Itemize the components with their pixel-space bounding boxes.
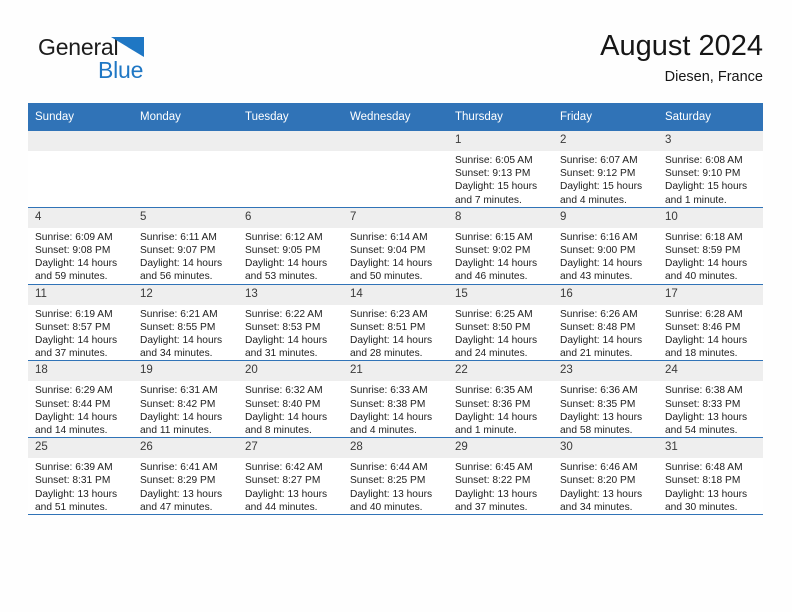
weekday-header-tuesday: Tuesday bbox=[238, 103, 343, 131]
daylight-text-line1: Daylight: 14 hours bbox=[350, 411, 442, 424]
daylight-text-line1: Daylight: 14 hours bbox=[140, 257, 232, 270]
sunset-text: Sunset: 8:44 PM bbox=[35, 398, 127, 411]
day-number: 21 bbox=[343, 361, 448, 381]
sunset-text: Sunset: 8:22 PM bbox=[455, 474, 547, 487]
daylight-text-line2: and 14 minutes. bbox=[35, 424, 127, 437]
daylight-text-line2: and 34 minutes. bbox=[560, 501, 652, 514]
daylight-text-line2: and 47 minutes. bbox=[140, 501, 232, 514]
daylight-text-line1: Daylight: 14 hours bbox=[665, 257, 757, 270]
sunset-text: Sunset: 8:38 PM bbox=[350, 398, 442, 411]
calendar-day-cell[interactable]: 2Sunrise: 6:07 AMSunset: 9:12 PMDaylight… bbox=[553, 131, 658, 207]
sunset-text: Sunset: 8:50 PM bbox=[455, 321, 547, 334]
calendar-day-cell[interactable]: 29Sunrise: 6:45 AMSunset: 8:22 PMDayligh… bbox=[448, 438, 553, 515]
daylight-text-line2: and 40 minutes. bbox=[350, 501, 442, 514]
sunset-text: Sunset: 8:35 PM bbox=[560, 398, 652, 411]
daylight-text-line2: and 56 minutes. bbox=[140, 270, 232, 283]
day-number: 8 bbox=[448, 208, 553, 228]
calendar-week-row: 18Sunrise: 6:29 AMSunset: 8:44 PMDayligh… bbox=[28, 361, 763, 438]
sunrise-text: Sunrise: 6:21 AM bbox=[140, 308, 232, 321]
day-details: Sunrise: 6:23 AMSunset: 8:51 PMDaylight:… bbox=[343, 305, 448, 361]
sunrise-text: Sunrise: 6:15 AM bbox=[455, 231, 547, 244]
day-number: 19 bbox=[133, 361, 238, 381]
daylight-text-line2: and 1 minute. bbox=[455, 424, 547, 437]
sunset-text: Sunset: 9:04 PM bbox=[350, 244, 442, 257]
calendar-day-cell[interactable]: 27Sunrise: 6:42 AMSunset: 8:27 PMDayligh… bbox=[238, 438, 343, 515]
day-number: 29 bbox=[448, 438, 553, 458]
daylight-text-line1: Daylight: 15 hours bbox=[455, 180, 547, 193]
daylight-text-line1: Daylight: 14 hours bbox=[665, 334, 757, 347]
daylight-text-line2: and 28 minutes. bbox=[350, 347, 442, 360]
day-number: 30 bbox=[553, 438, 658, 458]
sunrise-text: Sunrise: 6:38 AM bbox=[665, 384, 757, 397]
day-number: 31 bbox=[658, 438, 763, 458]
sunset-text: Sunset: 8:57 PM bbox=[35, 321, 127, 334]
sunrise-text: Sunrise: 6:22 AM bbox=[245, 308, 337, 321]
calendar-day-cell[interactable]: 16Sunrise: 6:26 AMSunset: 8:48 PMDayligh… bbox=[553, 284, 658, 361]
sunrise-text: Sunrise: 6:48 AM bbox=[665, 461, 757, 474]
weekday-header-monday: Monday bbox=[133, 103, 238, 131]
day-number: 13 bbox=[238, 285, 343, 305]
sunset-text: Sunset: 8:48 PM bbox=[560, 321, 652, 334]
calendar-day-cell[interactable]: 13Sunrise: 6:22 AMSunset: 8:53 PMDayligh… bbox=[238, 284, 343, 361]
daylight-text-line1: Daylight: 13 hours bbox=[665, 411, 757, 424]
day-details: Sunrise: 6:42 AMSunset: 8:27 PMDaylight:… bbox=[238, 458, 343, 514]
day-details: Sunrise: 6:48 AMSunset: 8:18 PMDaylight:… bbox=[658, 458, 763, 514]
daylight-text-line2: and 11 minutes. bbox=[140, 424, 232, 437]
day-details: Sunrise: 6:28 AMSunset: 8:46 PMDaylight:… bbox=[658, 305, 763, 361]
sunrise-text: Sunrise: 6:44 AM bbox=[350, 461, 442, 474]
sunset-text: Sunset: 9:12 PM bbox=[560, 167, 652, 180]
sunset-text: Sunset: 8:40 PM bbox=[245, 398, 337, 411]
sunset-text: Sunset: 8:55 PM bbox=[140, 321, 232, 334]
daylight-text-line2: and 53 minutes. bbox=[245, 270, 337, 283]
daylight-text-line2: and 50 minutes. bbox=[350, 270, 442, 283]
calendar-day-cell[interactable]: 25Sunrise: 6:39 AMSunset: 8:31 PMDayligh… bbox=[28, 438, 133, 515]
page-header: General Blue August 2024 Diesen, France bbox=[28, 28, 763, 90]
calendar-day-cell[interactable]: 31Sunrise: 6:48 AMSunset: 8:18 PMDayligh… bbox=[658, 438, 763, 515]
calendar-day-cell[interactable]: 22Sunrise: 6:35 AMSunset: 8:36 PMDayligh… bbox=[448, 361, 553, 438]
day-details: Sunrise: 6:08 AMSunset: 9:10 PMDaylight:… bbox=[658, 151, 763, 207]
sunrise-text: Sunrise: 6:33 AM bbox=[350, 384, 442, 397]
day-details: Sunrise: 6:26 AMSunset: 8:48 PMDaylight:… bbox=[553, 305, 658, 361]
calendar-day-cell[interactable]: 19Sunrise: 6:31 AMSunset: 8:42 PMDayligh… bbox=[133, 361, 238, 438]
sunrise-text: Sunrise: 6:18 AM bbox=[665, 231, 757, 244]
sunset-text: Sunset: 8:29 PM bbox=[140, 474, 232, 487]
weekday-header-row: Sunday Monday Tuesday Wednesday Thursday… bbox=[28, 103, 763, 131]
calendar-day-cell[interactable]: 14Sunrise: 6:23 AMSunset: 8:51 PMDayligh… bbox=[343, 284, 448, 361]
day-number: 12 bbox=[133, 285, 238, 305]
sunrise-text: Sunrise: 6:12 AM bbox=[245, 231, 337, 244]
sunset-text: Sunset: 8:27 PM bbox=[245, 474, 337, 487]
sunrise-text: Sunrise: 6:42 AM bbox=[245, 461, 337, 474]
calendar-day-cell[interactable]: 1Sunrise: 6:05 AMSunset: 9:13 PMDaylight… bbox=[448, 131, 553, 207]
daylight-text-line2: and 21 minutes. bbox=[560, 347, 652, 360]
sunrise-text: Sunrise: 6:35 AM bbox=[455, 384, 547, 397]
daylight-text-line1: Daylight: 14 hours bbox=[35, 257, 127, 270]
daylight-text-line2: and 54 minutes. bbox=[665, 424, 757, 437]
day-number: 4 bbox=[28, 208, 133, 228]
day-details: Sunrise: 6:44 AMSunset: 8:25 PMDaylight:… bbox=[343, 458, 448, 514]
sunrise-text: Sunrise: 6:05 AM bbox=[455, 154, 547, 167]
calendar-day-cell[interactable]: 5Sunrise: 6:11 AMSunset: 9:07 PMDaylight… bbox=[133, 207, 238, 284]
day-details: Sunrise: 6:33 AMSunset: 8:38 PMDaylight:… bbox=[343, 381, 448, 437]
calendar-day-cell[interactable]: 23Sunrise: 6:36 AMSunset: 8:35 PMDayligh… bbox=[553, 361, 658, 438]
day-details: Sunrise: 6:18 AMSunset: 8:59 PMDaylight:… bbox=[658, 228, 763, 284]
sunset-text: Sunset: 8:33 PM bbox=[665, 398, 757, 411]
daylight-text-line1: Daylight: 15 hours bbox=[665, 180, 757, 193]
daylight-text-line2: and 18 minutes. bbox=[665, 347, 757, 360]
day-number bbox=[343, 131, 448, 151]
calendar-day-cell[interactable]: 7Sunrise: 6:14 AMSunset: 9:04 PMDaylight… bbox=[343, 207, 448, 284]
sunset-text: Sunset: 9:02 PM bbox=[455, 244, 547, 257]
day-number bbox=[133, 131, 238, 151]
page-title: August 2024 bbox=[600, 28, 763, 64]
calendar-week-row: 11Sunrise: 6:19 AMSunset: 8:57 PMDayligh… bbox=[28, 284, 763, 361]
daylight-text-line1: Daylight: 14 hours bbox=[455, 411, 547, 424]
day-number: 22 bbox=[448, 361, 553, 381]
day-number: 24 bbox=[658, 361, 763, 381]
calendar-day-cell[interactable]: 28Sunrise: 6:44 AMSunset: 8:25 PMDayligh… bbox=[343, 438, 448, 515]
daylight-text-line2: and 1 minute. bbox=[665, 194, 757, 207]
calendar-day-cell-empty bbox=[28, 131, 133, 207]
calendar-day-cell[interactable]: 12Sunrise: 6:21 AMSunset: 8:55 PMDayligh… bbox=[133, 284, 238, 361]
day-number: 10 bbox=[658, 208, 763, 228]
sunset-text: Sunset: 8:25 PM bbox=[350, 474, 442, 487]
daylight-text-line2: and 34 minutes. bbox=[140, 347, 232, 360]
day-number: 5 bbox=[133, 208, 238, 228]
daylight-text-line1: Daylight: 13 hours bbox=[245, 488, 337, 501]
sunset-text: Sunset: 8:31 PM bbox=[35, 474, 127, 487]
day-number: 9 bbox=[553, 208, 658, 228]
sunset-text: Sunset: 9:08 PM bbox=[35, 244, 127, 257]
sunrise-text: Sunrise: 6:31 AM bbox=[140, 384, 232, 397]
sunrise-text: Sunrise: 6:16 AM bbox=[560, 231, 652, 244]
sunrise-text: Sunrise: 6:26 AM bbox=[560, 308, 652, 321]
sunset-text: Sunset: 8:20 PM bbox=[560, 474, 652, 487]
daylight-text-line2: and 59 minutes. bbox=[35, 270, 127, 283]
sunrise-text: Sunrise: 6:32 AM bbox=[245, 384, 337, 397]
calendar-week-row: 1Sunrise: 6:05 AMSunset: 9:13 PMDaylight… bbox=[28, 131, 763, 207]
day-number: 25 bbox=[28, 438, 133, 458]
title-block: August 2024 Diesen, France bbox=[600, 28, 763, 88]
calendar-day-cell[interactable]: 17Sunrise: 6:28 AMSunset: 8:46 PMDayligh… bbox=[658, 284, 763, 361]
daylight-text-line1: Daylight: 14 hours bbox=[560, 257, 652, 270]
calendar-day-cell-empty bbox=[238, 131, 343, 207]
sunrise-text: Sunrise: 6:25 AM bbox=[455, 308, 547, 321]
daylight-text-line2: and 4 minutes. bbox=[350, 424, 442, 437]
daylight-text-line1: Daylight: 14 hours bbox=[245, 334, 337, 347]
daylight-text-line1: Daylight: 13 hours bbox=[560, 411, 652, 424]
day-details: Sunrise: 6:45 AMSunset: 8:22 PMDaylight:… bbox=[448, 458, 553, 514]
calendar-week-row: 4Sunrise: 6:09 AMSunset: 9:08 PMDaylight… bbox=[28, 207, 763, 284]
day-details: Sunrise: 6:32 AMSunset: 8:40 PMDaylight:… bbox=[238, 381, 343, 437]
sunrise-text: Sunrise: 6:29 AM bbox=[35, 384, 127, 397]
calendar-header-row-group: Sunday Monday Tuesday Wednesday Thursday… bbox=[28, 103, 763, 131]
calendar-day-cell[interactable]: 15Sunrise: 6:25 AMSunset: 8:50 PMDayligh… bbox=[448, 284, 553, 361]
daylight-text-line1: Daylight: 14 hours bbox=[35, 334, 127, 347]
day-number: 20 bbox=[238, 361, 343, 381]
day-details: Sunrise: 6:38 AMSunset: 8:33 PMDaylight:… bbox=[658, 381, 763, 437]
daylight-text-line1: Daylight: 13 hours bbox=[455, 488, 547, 501]
sunrise-text: Sunrise: 6:14 AM bbox=[350, 231, 442, 244]
daylight-text-line1: Daylight: 14 hours bbox=[350, 334, 442, 347]
day-number: 27 bbox=[238, 438, 343, 458]
daylight-text-line2: and 24 minutes. bbox=[455, 347, 547, 360]
sunrise-text: Sunrise: 6:45 AM bbox=[455, 461, 547, 474]
day-number: 16 bbox=[553, 285, 658, 305]
day-details: Sunrise: 6:35 AMSunset: 8:36 PMDaylight:… bbox=[448, 381, 553, 437]
daylight-text-line1: Daylight: 15 hours bbox=[560, 180, 652, 193]
day-details: Sunrise: 6:19 AMSunset: 8:57 PMDaylight:… bbox=[28, 305, 133, 361]
daylight-text-line1: Daylight: 14 hours bbox=[455, 334, 547, 347]
brand-name-blue: Blue bbox=[98, 57, 143, 83]
calendar-day-cell[interactable]: 6Sunrise: 6:12 AMSunset: 9:05 PMDaylight… bbox=[238, 207, 343, 284]
daylight-text-line2: and 58 minutes. bbox=[560, 424, 652, 437]
page-subtitle-location: Diesen, France bbox=[600, 66, 763, 88]
day-details: Sunrise: 6:11 AMSunset: 9:07 PMDaylight:… bbox=[133, 228, 238, 284]
daylight-text-line1: Daylight: 13 hours bbox=[35, 488, 127, 501]
sunrise-text: Sunrise: 6:39 AM bbox=[35, 461, 127, 474]
day-number bbox=[28, 131, 133, 151]
day-details: Sunrise: 6:29 AMSunset: 8:44 PMDaylight:… bbox=[28, 381, 133, 437]
daylight-text-line2: and 31 minutes. bbox=[245, 347, 337, 360]
day-details: Sunrise: 6:09 AMSunset: 9:08 PMDaylight:… bbox=[28, 228, 133, 284]
sunset-text: Sunset: 8:36 PM bbox=[455, 398, 547, 411]
daylight-text-line1: Daylight: 13 hours bbox=[665, 488, 757, 501]
day-details: Sunrise: 6:31 AMSunset: 8:42 PMDaylight:… bbox=[133, 381, 238, 437]
weekday-header-wednesday: Wednesday bbox=[343, 103, 448, 131]
day-number: 2 bbox=[553, 131, 658, 151]
daylight-text-line1: Daylight: 13 hours bbox=[560, 488, 652, 501]
daylight-text-line1: Daylight: 14 hours bbox=[245, 257, 337, 270]
weekday-header-thursday: Thursday bbox=[448, 103, 553, 131]
calendar-day-cell[interactable]: 30Sunrise: 6:46 AMSunset: 8:20 PMDayligh… bbox=[553, 438, 658, 515]
calendar-body: 1Sunrise: 6:05 AMSunset: 9:13 PMDaylight… bbox=[28, 131, 763, 515]
calendar-day-cell[interactable]: 21Sunrise: 6:33 AMSunset: 8:38 PMDayligh… bbox=[343, 361, 448, 438]
weekday-header-friday: Friday bbox=[553, 103, 658, 131]
day-number: 1 bbox=[448, 131, 553, 151]
daylight-text-line1: Daylight: 14 hours bbox=[560, 334, 652, 347]
calendar-day-cell[interactable]: 24Sunrise: 6:38 AMSunset: 8:33 PMDayligh… bbox=[658, 361, 763, 438]
day-details: Sunrise: 6:39 AMSunset: 8:31 PMDaylight:… bbox=[28, 458, 133, 514]
sunrise-text: Sunrise: 6:41 AM bbox=[140, 461, 232, 474]
sunset-text: Sunset: 9:10 PM bbox=[665, 167, 757, 180]
daylight-text-line2: and 37 minutes. bbox=[35, 347, 127, 360]
weekday-header-saturday: Saturday bbox=[658, 103, 763, 131]
daylight-text-line1: Daylight: 13 hours bbox=[350, 488, 442, 501]
daylight-text-line1: Daylight: 14 hours bbox=[350, 257, 442, 270]
day-number: 11 bbox=[28, 285, 133, 305]
daylight-text-line1: Daylight: 14 hours bbox=[140, 411, 232, 424]
sunrise-text: Sunrise: 6:07 AM bbox=[560, 154, 652, 167]
day-number: 18 bbox=[28, 361, 133, 381]
brand-logo[interactable]: General Blue bbox=[38, 34, 168, 86]
day-details: Sunrise: 6:46 AMSunset: 8:20 PMDaylight:… bbox=[553, 458, 658, 514]
day-number bbox=[238, 131, 343, 151]
daylight-text-line1: Daylight: 13 hours bbox=[140, 488, 232, 501]
sunset-text: Sunset: 9:05 PM bbox=[245, 244, 337, 257]
sunset-text: Sunset: 8:59 PM bbox=[665, 244, 757, 257]
calendar-day-cell[interactable]: 18Sunrise: 6:29 AMSunset: 8:44 PMDayligh… bbox=[28, 361, 133, 438]
sunrise-text: Sunrise: 6:36 AM bbox=[560, 384, 652, 397]
daylight-text-line2: and 30 minutes. bbox=[665, 501, 757, 514]
sunrise-text: Sunrise: 6:19 AM bbox=[35, 308, 127, 321]
sunset-text: Sunset: 8:42 PM bbox=[140, 398, 232, 411]
day-number: 3 bbox=[658, 131, 763, 151]
calendar-day-cell[interactable]: 11Sunrise: 6:19 AMSunset: 8:57 PMDayligh… bbox=[28, 284, 133, 361]
day-number: 6 bbox=[238, 208, 343, 228]
day-number: 23 bbox=[553, 361, 658, 381]
sunrise-text: Sunrise: 6:23 AM bbox=[350, 308, 442, 321]
day-details: Sunrise: 6:05 AMSunset: 9:13 PMDaylight:… bbox=[448, 151, 553, 207]
sunset-text: Sunset: 9:07 PM bbox=[140, 244, 232, 257]
daylight-text-line2: and 51 minutes. bbox=[35, 501, 127, 514]
calendar-day-cell[interactable]: 20Sunrise: 6:32 AMSunset: 8:40 PMDayligh… bbox=[238, 361, 343, 438]
daylight-text-line2: and 37 minutes. bbox=[455, 501, 547, 514]
sunrise-text: Sunrise: 6:11 AM bbox=[140, 231, 232, 244]
daylight-text-line1: Daylight: 14 hours bbox=[140, 334, 232, 347]
day-details: Sunrise: 6:22 AMSunset: 8:53 PMDaylight:… bbox=[238, 305, 343, 361]
calendar-day-cell[interactable]: 9Sunrise: 6:16 AMSunset: 9:00 PMDaylight… bbox=[553, 207, 658, 284]
calendar-day-cell[interactable]: 26Sunrise: 6:41 AMSunset: 8:29 PMDayligh… bbox=[133, 438, 238, 515]
sunrise-text: Sunrise: 6:46 AM bbox=[560, 461, 652, 474]
calendar-table: Sunday Monday Tuesday Wednesday Thursday… bbox=[28, 103, 763, 515]
day-details: Sunrise: 6:36 AMSunset: 8:35 PMDaylight:… bbox=[553, 381, 658, 437]
calendar-week-row: 25Sunrise: 6:39 AMSunset: 8:31 PMDayligh… bbox=[28, 438, 763, 515]
calendar-day-cell[interactable]: 3Sunrise: 6:08 AMSunset: 9:10 PMDaylight… bbox=[658, 131, 763, 207]
sunset-text: Sunset: 8:51 PM bbox=[350, 321, 442, 334]
sunset-text: Sunset: 8:46 PM bbox=[665, 321, 757, 334]
daylight-text-line2: and 4 minutes. bbox=[560, 194, 652, 207]
calendar-day-cell[interactable]: 8Sunrise: 6:15 AMSunset: 9:02 PMDaylight… bbox=[448, 207, 553, 284]
sunset-text: Sunset: 9:13 PM bbox=[455, 167, 547, 180]
daylight-text-line2: and 8 minutes. bbox=[245, 424, 337, 437]
day-number: 15 bbox=[448, 285, 553, 305]
sunset-text: Sunset: 8:53 PM bbox=[245, 321, 337, 334]
sunset-text: Sunset: 9:00 PM bbox=[560, 244, 652, 257]
daylight-text-line2: and 43 minutes. bbox=[560, 270, 652, 283]
daylight-text-line2: and 44 minutes. bbox=[245, 501, 337, 514]
day-number: 17 bbox=[658, 285, 763, 305]
day-number: 28 bbox=[343, 438, 448, 458]
daylight-text-line1: Daylight: 14 hours bbox=[245, 411, 337, 424]
day-number: 26 bbox=[133, 438, 238, 458]
day-details: Sunrise: 6:25 AMSunset: 8:50 PMDaylight:… bbox=[448, 305, 553, 361]
daylight-text-line2: and 46 minutes. bbox=[455, 270, 547, 283]
sunset-text: Sunset: 8:18 PM bbox=[665, 474, 757, 487]
day-details: Sunrise: 6:41 AMSunset: 8:29 PMDaylight:… bbox=[133, 458, 238, 514]
day-number: 14 bbox=[343, 285, 448, 305]
daylight-text-line2: and 40 minutes. bbox=[665, 270, 757, 283]
calendar-day-cell-empty bbox=[343, 131, 448, 207]
daylight-text-line1: Daylight: 14 hours bbox=[35, 411, 127, 424]
calendar-day-cell-empty bbox=[133, 131, 238, 207]
day-details: Sunrise: 6:07 AMSunset: 9:12 PMDaylight:… bbox=[553, 151, 658, 207]
calendar-page: General Blue August 2024 Diesen, France … bbox=[0, 0, 792, 612]
day-number: 7 bbox=[343, 208, 448, 228]
day-details: Sunrise: 6:16 AMSunset: 9:00 PMDaylight:… bbox=[553, 228, 658, 284]
day-details: Sunrise: 6:21 AMSunset: 8:55 PMDaylight:… bbox=[133, 305, 238, 361]
day-details: Sunrise: 6:12 AMSunset: 9:05 PMDaylight:… bbox=[238, 228, 343, 284]
calendar-day-cell[interactable]: 4Sunrise: 6:09 AMSunset: 9:08 PMDaylight… bbox=[28, 207, 133, 284]
sunrise-text: Sunrise: 6:08 AM bbox=[665, 154, 757, 167]
sunrise-text: Sunrise: 6:28 AM bbox=[665, 308, 757, 321]
daylight-text-line1: Daylight: 14 hours bbox=[455, 257, 547, 270]
weekday-header-sunday: Sunday bbox=[28, 103, 133, 131]
blue-flag-triangle-icon bbox=[111, 37, 144, 57]
sunrise-text: Sunrise: 6:09 AM bbox=[35, 231, 127, 244]
calendar-day-cell[interactable]: 10Sunrise: 6:18 AMSunset: 8:59 PMDayligh… bbox=[658, 207, 763, 284]
daylight-text-line2: and 7 minutes. bbox=[455, 194, 547, 207]
day-details: Sunrise: 6:15 AMSunset: 9:02 PMDaylight:… bbox=[448, 228, 553, 284]
day-details: Sunrise: 6:14 AMSunset: 9:04 PMDaylight:… bbox=[343, 228, 448, 284]
